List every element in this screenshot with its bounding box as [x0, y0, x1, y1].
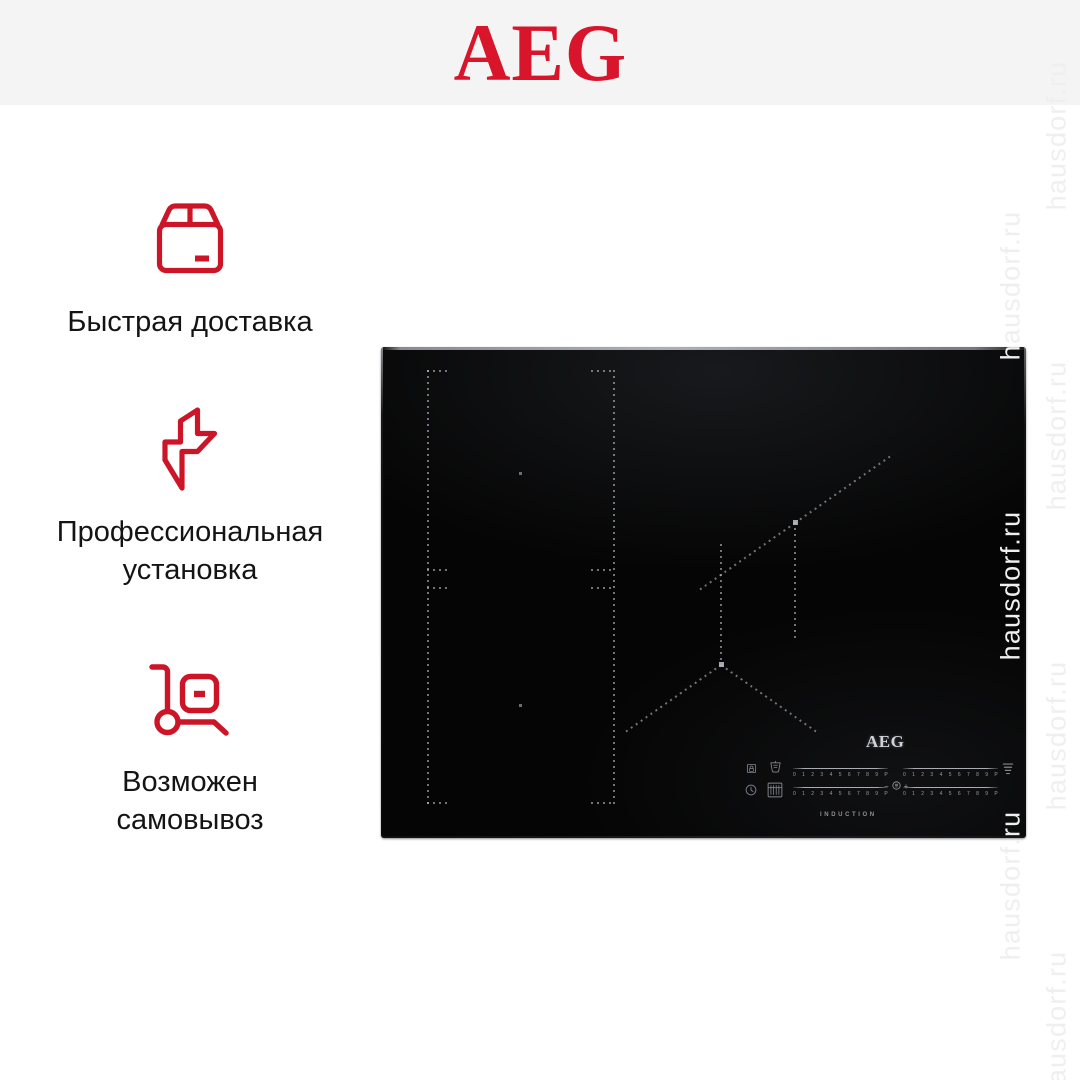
- tick: 0: [793, 791, 796, 797]
- zone-marking-rf-branch-right: [720, 664, 818, 733]
- tick: 8: [866, 791, 869, 797]
- timer-lock-icon[interactable]: [746, 763, 757, 774]
- hand-truck-icon: [136, 650, 244, 748]
- hob-bevel-bottom: [381, 836, 1026, 838]
- minus-button[interactable]: −: [884, 782, 889, 791]
- tick: 4: [830, 772, 833, 778]
- power-boost-icon[interactable]: [1002, 762, 1014, 776]
- feature-item-delivery: Быстрая доставка: [0, 190, 380, 342]
- tick: 4: [830, 791, 833, 797]
- zone-marking-rf-branch-left: [624, 664, 722, 733]
- tick: 1: [912, 772, 915, 778]
- package-box-icon: [136, 190, 244, 288]
- watermark-text: hausdorf.ru: [1042, 361, 1073, 511]
- lightning-bolt-icon: [136, 400, 244, 498]
- hob-control-panel[interactable]: AEG: [736, 732, 1021, 830]
- zone-marking-cap-mr-b: [591, 587, 615, 589]
- tick: 5: [839, 772, 842, 778]
- zone-marking-cap-tl: [427, 370, 451, 372]
- zone-marking-rf-stem: [720, 544, 722, 664]
- tick: 3: [930, 772, 933, 778]
- zone-front-right-slider[interactable]: 0 1 2 3 4 5 6 7 8 9 P: [903, 787, 998, 803]
- feature-label-pickup: Возможен самовывоз: [116, 764, 263, 840]
- tick: 0: [903, 791, 906, 797]
- slider-scale: 0 1 2 3 4 5 6 7 8 9 P: [793, 772, 888, 778]
- feature-label-installation: Профессиональная установка: [57, 514, 323, 590]
- zone-marking-cap-ml-b: [427, 587, 451, 589]
- zone-marking-rr-stem: [794, 522, 796, 642]
- tick: 3: [930, 791, 933, 797]
- feature-label-delivery: Быстрая доставка: [67, 304, 312, 342]
- zone-marking-cap-ml-a: [427, 569, 451, 571]
- tick: 1: [802, 791, 805, 797]
- bridge-cookware-icon[interactable]: [769, 760, 782, 774]
- tick: 1: [802, 772, 805, 778]
- watermark-text: hausdorf.ru: [1042, 951, 1073, 1080]
- aeg-logo: AEG: [453, 12, 626, 94]
- tick: P: [994, 772, 998, 778]
- watermark-text: hausdorf.ru: [1042, 661, 1073, 811]
- clock-timer-icon[interactable]: [745, 784, 757, 796]
- tick: 9: [985, 791, 988, 797]
- tick: 5: [949, 772, 952, 778]
- tick: 0: [793, 772, 796, 778]
- product-image-induction-hob: AEG: [381, 347, 1026, 838]
- brand-header: AEG: [0, 0, 1080, 105]
- tick: P: [994, 791, 998, 797]
- hob-bevel-left: [381, 347, 383, 838]
- feature-label-installation-line1: Профессиональная: [57, 516, 323, 548]
- tick: 8: [976, 791, 979, 797]
- slider-track[interactable]: [903, 768, 998, 769]
- tick: 7: [967, 772, 970, 778]
- induction-label: INDUCTION: [820, 812, 877, 818]
- feature-list: Быстрая доставка Профессиональная устано…: [0, 190, 380, 840]
- zone-marking-cap-mr-a: [591, 569, 615, 571]
- tick: P: [884, 772, 888, 778]
- feature-label-installation-line2: установка: [123, 554, 258, 586]
- hob-bevel-right: [1024, 347, 1026, 838]
- tick: 4: [940, 772, 943, 778]
- hob-bevel-top: [381, 347, 1026, 350]
- tick: 6: [848, 772, 851, 778]
- tick: 9: [875, 791, 878, 797]
- zone-rear-right-slider[interactable]: 0 1 2 3 4 5 6 7 8 9 P: [903, 768, 998, 784]
- zone-marking-rr-branch-right: [794, 453, 893, 523]
- tick: 2: [921, 791, 924, 797]
- zone-front-left-slider[interactable]: 0 1 2 3 4 5 6 7 8 9 P: [793, 787, 888, 803]
- tick: 6: [958, 791, 961, 797]
- zone-marking-rr-branch-left: [696, 522, 795, 592]
- tick: 9: [875, 772, 878, 778]
- tick: 2: [811, 772, 814, 778]
- slider-scale: 0 1 2 3 4 5 6 7 8 9 P: [903, 772, 998, 778]
- tick: 9: [985, 772, 988, 778]
- tick: 7: [967, 791, 970, 797]
- feature-item-installation: Профессиональная установка: [0, 400, 380, 590]
- tick: 2: [811, 791, 814, 797]
- tick: 5: [949, 791, 952, 797]
- slider-track[interactable]: [793, 768, 888, 769]
- zone-rear-left-slider[interactable]: 0 1 2 3 4 5 6 7 8 9 P: [793, 768, 888, 784]
- tick: 7: [857, 772, 860, 778]
- tick: 8: [866, 772, 869, 778]
- zone-marking-cap-br: [591, 802, 615, 804]
- zone-marking-cap-tr: [591, 370, 615, 372]
- feature-label-pickup-line1: Возможен: [122, 766, 258, 798]
- pause-stop-icon[interactable]: [892, 781, 901, 792]
- tick: 8: [976, 772, 979, 778]
- hob-glass-surface: AEG: [381, 347, 1026, 838]
- tick: 6: [958, 772, 961, 778]
- tick: 6: [848, 791, 851, 797]
- zone-marking-cap-bl: [427, 802, 451, 804]
- slider-track[interactable]: [903, 787, 998, 788]
- zone-center-dot-left-rear: [519, 472, 522, 475]
- zone-center-dot-left-front: [519, 704, 522, 707]
- feature-item-pickup: Возможен самовывоз: [0, 650, 380, 840]
- slider-scale: 0 1 2 3 4 5 6 7 8 9 P: [903, 791, 998, 797]
- watermark-column-outer: hausdorf.ru hausdorf.ru hausdorf.ru haus…: [1034, 0, 1080, 1080]
- slider-track[interactable]: [793, 787, 888, 788]
- tick: 5: [839, 791, 842, 797]
- slider-scale: 0 1 2 3 4 5 6 7 8 9 P: [793, 791, 888, 797]
- tick: 2: [921, 772, 924, 778]
- control-panel-aeg-logo: AEG: [866, 732, 904, 752]
- tick: 3: [820, 772, 823, 778]
- tick: 1: [912, 791, 915, 797]
- product-card-page: AEG Быстрая доставка Пр: [0, 0, 1080, 1080]
- tick: 7: [857, 791, 860, 797]
- tick: 3: [820, 791, 823, 797]
- tick: 0: [903, 772, 906, 778]
- feature-label-pickup-line2: самовывоз: [116, 804, 263, 836]
- tick: 4: [940, 791, 943, 797]
- watermark-text: hausdorf.ru: [996, 211, 1027, 361]
- hob2hood-icon[interactable]: [767, 782, 783, 798]
